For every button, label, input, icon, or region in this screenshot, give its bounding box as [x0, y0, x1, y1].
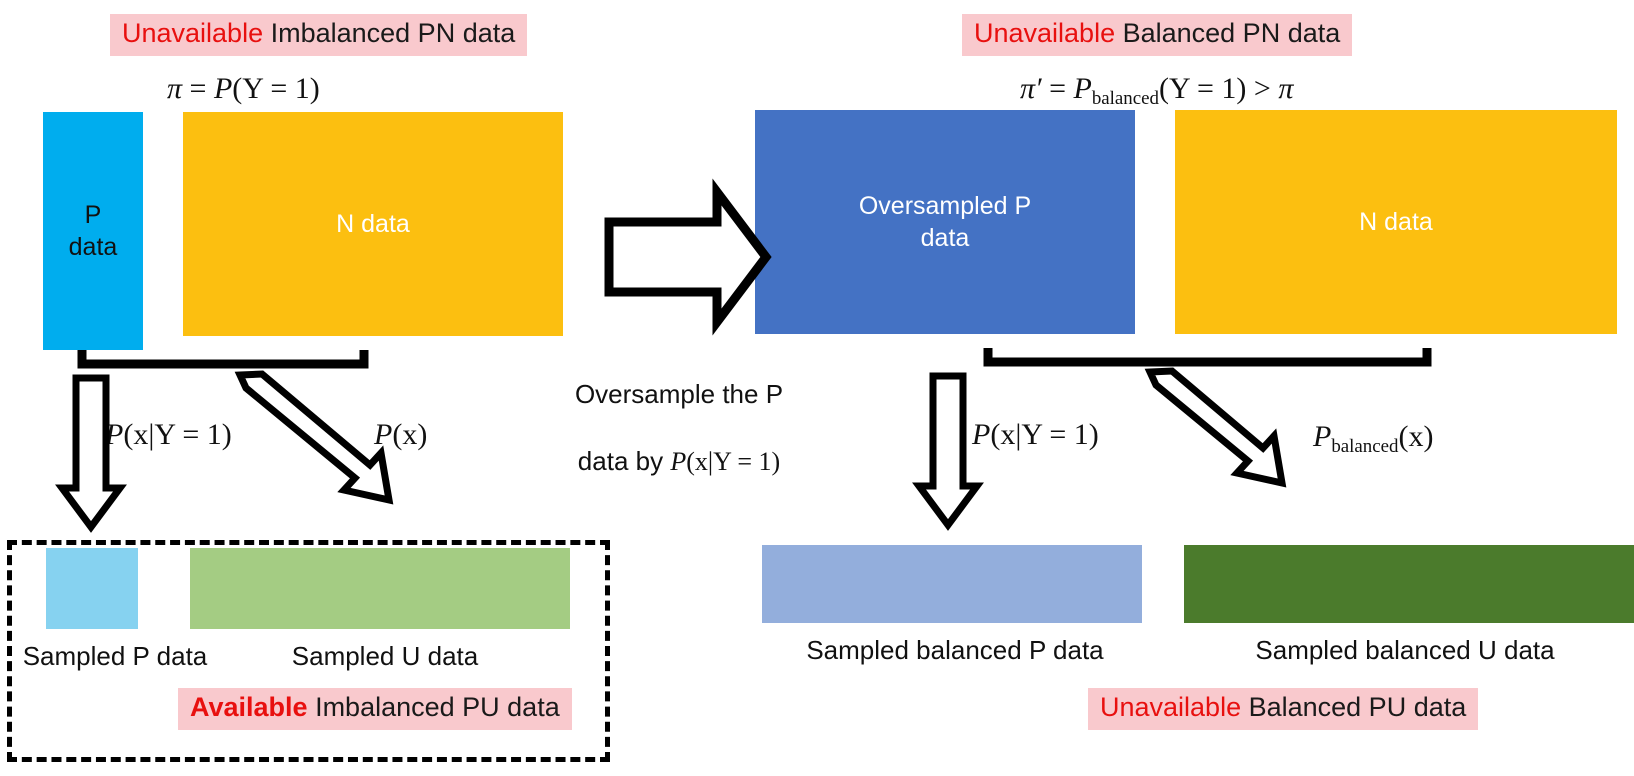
oversample-transform-caption: Oversample the P data by P(x|Y = 1)	[548, 344, 810, 479]
n-data-label-left: N data	[336, 208, 410, 240]
right-diag-arrow-label-sub: balanced	[1331, 436, 1398, 457]
left-top-banner-rest: Imbalanced PN data	[263, 18, 515, 48]
left-down-arrow-label: P(x|Y = 1)	[105, 418, 232, 452]
sampled-balanced-p-data-block	[762, 545, 1142, 623]
p-data-block: P data	[43, 112, 143, 350]
right-diag-arrow-label-arg: (x)	[1398, 420, 1433, 453]
n-data-block-left: N data	[183, 112, 563, 336]
n-data-block-right: N data	[1175, 110, 1617, 334]
oversample-caption-line2-math-arg: (x|Y = 1)	[686, 447, 780, 476]
sampled-balanced-u-data-block	[1184, 545, 1634, 623]
right-block-arrow	[609, 192, 766, 322]
left-bracket	[82, 350, 364, 364]
sampled-u-data-block	[190, 548, 570, 629]
left-diagonal-arrow	[240, 374, 389, 500]
right-down-arrow-label-arg: (x|Y = 1)	[990, 418, 1098, 451]
sampled-u-data-caption: Sampled U data	[280, 640, 490, 674]
left-prior-arg: (Y = 1)	[232, 72, 319, 105]
oversampled-p-data-label: Oversampled P data	[859, 190, 1031, 254]
right-prior-sub: balanced	[1092, 88, 1159, 109]
left-prior-eq: =	[182, 72, 214, 105]
right-bracket	[988, 348, 1427, 362]
right-diag-arrow-label: Pbalanced(x)	[1313, 420, 1433, 454]
left-bottom-banner-rest: Imbalanced PU data	[308, 692, 560, 722]
right-diagonal-arrow	[1150, 371, 1282, 483]
left-diag-arrow-label: P(x)	[374, 418, 427, 452]
right-bottom-banner-rest: Balanced PU data	[1241, 692, 1466, 722]
left-diag-arrow-label-p: P	[374, 418, 392, 451]
right-bottom-banner-emphasis: Unavailable	[1100, 692, 1241, 722]
right-prior-eq: =	[1042, 72, 1074, 105]
oversample-caption-line2-prefix: data by	[578, 446, 671, 476]
right-top-banner: Unavailable Balanced PN data	[962, 14, 1352, 56]
oversample-caption-line2-math-p: P	[670, 447, 686, 476]
n-data-label-right: N data	[1359, 206, 1433, 238]
right-down-arrow-label: P(x|Y = 1)	[972, 418, 1099, 452]
left-top-banner-emphasis: Unavailable	[122, 18, 263, 48]
left-prior-p: P	[214, 72, 232, 105]
left-top-banner: Unavailable Imbalanced PN data	[110, 14, 527, 56]
left-diag-arrow-label-arg: (x)	[392, 418, 427, 451]
left-prior-formula: π = P(Y = 1)	[167, 72, 320, 106]
left-bottom-banner-emphasis: Available	[190, 692, 308, 722]
right-down-arrow	[919, 376, 977, 525]
oversampled-p-data-block: Oversampled P data	[755, 110, 1135, 334]
diagram-canvas: Unavailable Imbalanced PN data π = P(Y =…	[0, 0, 1634, 776]
sampled-p-data-block	[46, 548, 138, 629]
sampled-balanced-u-data-caption: Sampled balanced U data	[1225, 634, 1585, 668]
right-prior-pi: π	[1278, 72, 1293, 105]
right-prior-arg: (Y = 1) >	[1159, 72, 1278, 105]
left-down-arrow-label-p: P	[105, 418, 123, 451]
right-top-banner-rest: Balanced PN data	[1115, 18, 1340, 48]
right-diag-arrow-label-p: P	[1313, 420, 1331, 453]
oversample-caption-line1: Oversample the P	[575, 379, 783, 409]
right-top-banner-emphasis: Unavailable	[974, 18, 1115, 48]
right-down-arrow-label-p: P	[972, 418, 990, 451]
right-prior-formula: π′ = Pbalanced(Y = 1) > π	[1020, 72, 1293, 106]
right-prior-pi-prime: π′	[1020, 72, 1042, 105]
p-data-label: P data	[69, 199, 118, 263]
left-down-arrow-label-arg: (x|Y = 1)	[123, 418, 231, 451]
sampled-p-data-caption: Sampled P data	[10, 640, 220, 674]
sampled-balanced-p-data-caption: Sampled balanced P data	[790, 634, 1120, 668]
right-prior-p: P	[1074, 72, 1092, 105]
right-bottom-banner: Unavailable Balanced PU data	[1088, 688, 1478, 730]
left-prior-pi: π	[167, 72, 182, 105]
left-down-arrow	[62, 378, 120, 527]
left-bottom-banner: Available Imbalanced PU data	[178, 688, 572, 730]
